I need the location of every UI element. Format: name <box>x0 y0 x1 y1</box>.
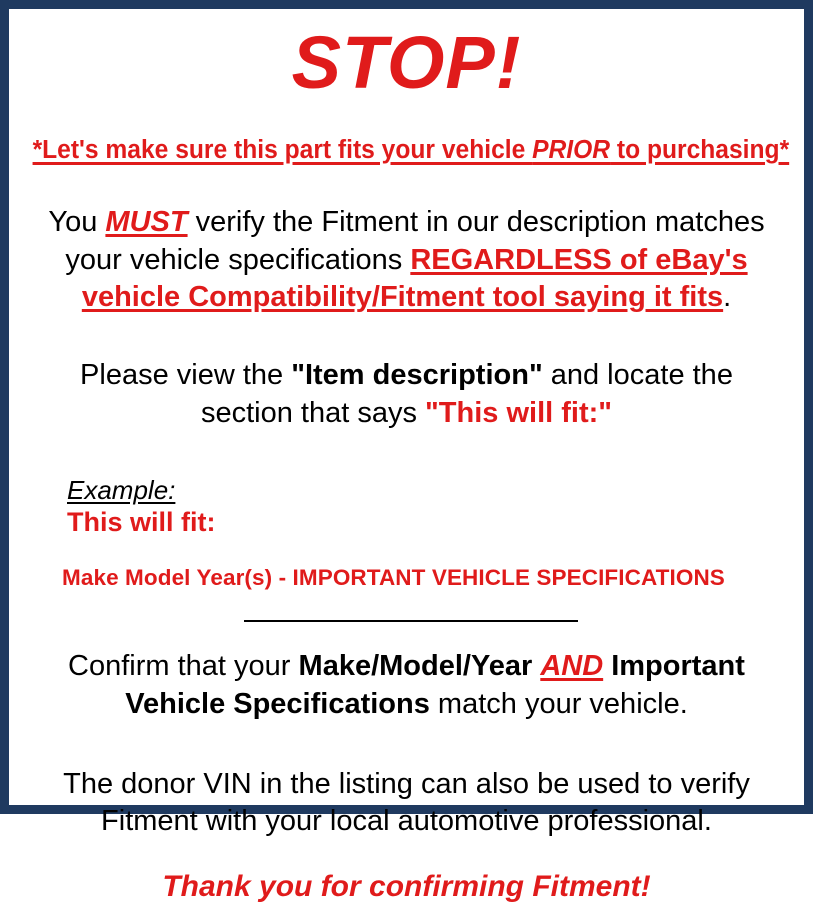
paragraph-confirm-match: Confirm that your Make/Model/Year AND Im… <box>19 648 794 723</box>
subtitle-text-part-1: *Let's make sure this part fits your veh… <box>33 136 533 164</box>
paragraph-donor-vin: The donor VIN in the listing can also be… <box>19 766 794 841</box>
must-emphasis-must: MUST <box>105 206 187 238</box>
subtitle-text-part-2: to purchasing* <box>610 136 789 164</box>
confirm-text-part-4: match your vehicle. <box>430 688 688 720</box>
view-text-part-1: Please view the <box>80 359 291 391</box>
confirm-text-part-3 <box>603 650 611 682</box>
fitment-notice-card: STOP! *Let's make sure this part fits yo… <box>0 0 813 814</box>
horizontal-divider <box>244 620 578 622</box>
subtitle-underlined-group: *Let's make sure this part fits your veh… <box>33 136 790 164</box>
divider-wrap <box>19 620 794 622</box>
example-fit-heading: This will fit: <box>67 507 794 538</box>
notice-content-area: STOP! *Let's make sure this part fits yo… <box>9 9 804 805</box>
stop-headline: STOP! <box>19 9 794 100</box>
confirm-emphasis-and: AND <box>540 650 603 682</box>
view-emphasis-item-description: "Item description" <box>291 359 542 391</box>
confirm-emphasis-make-model-year: Make/Model/Year <box>299 650 533 682</box>
example-label: Example: <box>67 476 794 506</box>
subtitle-emphasis-prior: PRIOR <box>532 136 610 164</box>
thank-you-line: Thank you for confirming Fitment! <box>19 869 794 905</box>
must-text-part-3: . <box>723 281 731 313</box>
view-emphasis-this-will-fit: "This will fit:" <box>425 397 612 429</box>
paragraph-must-verify: You MUST verify the Fitment in our descr… <box>19 204 794 317</box>
example-spec-line: Make Model Year(s) - IMPORTANT VEHICLE S… <box>62 565 794 591</box>
confirm-text-part-1: Confirm that your <box>68 650 298 682</box>
must-text-part-1: You <box>48 206 105 238</box>
subtitle-line: *Let's make sure this part fits your veh… <box>33 136 781 164</box>
paragraph-view-description: Please view the "Item description" and l… <box>19 357 794 432</box>
example-block: Example: This will fit: Make Model Year(… <box>19 476 794 591</box>
